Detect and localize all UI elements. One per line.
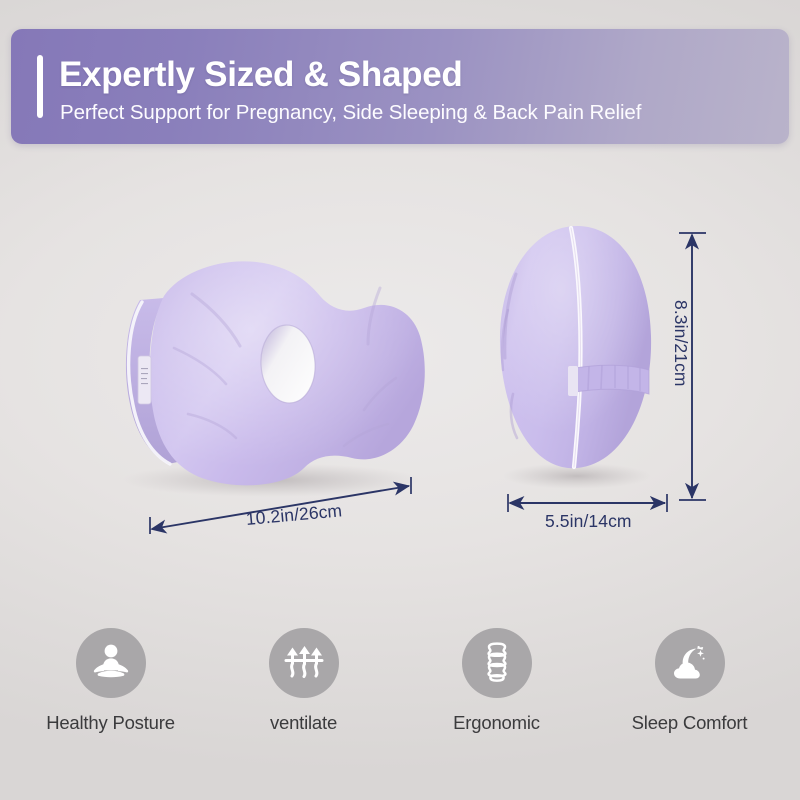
product-stage (0, 150, 800, 570)
pillow-side-strap-label (568, 366, 578, 396)
feature-item-sleep-comfort: Sleep Comfort (614, 628, 766, 734)
feature-icon-circle (269, 628, 339, 698)
feature-label: Sleep Comfort (632, 712, 748, 734)
banner-subtitle: Perfect Support for Pregnancy, Side Slee… (60, 100, 641, 126)
airflow-arrows-icon (281, 640, 327, 686)
header-banner: Expertly Sized & Shaped Perfect Support … (11, 29, 789, 144)
feature-label: ventilate (270, 712, 337, 734)
feature-item-ergonomic: Ergonomic (421, 628, 573, 734)
pillow-front-view (96, 228, 436, 494)
moon-cloud-stars-icon (667, 640, 713, 686)
banner-title: Expertly Sized & Shaped (59, 54, 463, 96)
feature-label: Ergonomic (453, 712, 540, 734)
banner-accent-bar (37, 55, 43, 118)
meditating-person-icon (88, 640, 134, 686)
feature-label: Healthy Posture (46, 712, 175, 734)
feature-item-healthy-posture: Healthy Posture (35, 628, 187, 734)
feature-icon-circle (462, 628, 532, 698)
feature-list: Healthy Posture ventilate (0, 628, 800, 748)
feature-icon-circle (655, 628, 725, 698)
pillow-side-view (489, 218, 664, 488)
feature-icon-circle (76, 628, 146, 698)
brand-tag (138, 356, 151, 404)
spine-vertebrae-icon (474, 640, 520, 686)
feature-item-ventilate: ventilate (228, 628, 380, 734)
